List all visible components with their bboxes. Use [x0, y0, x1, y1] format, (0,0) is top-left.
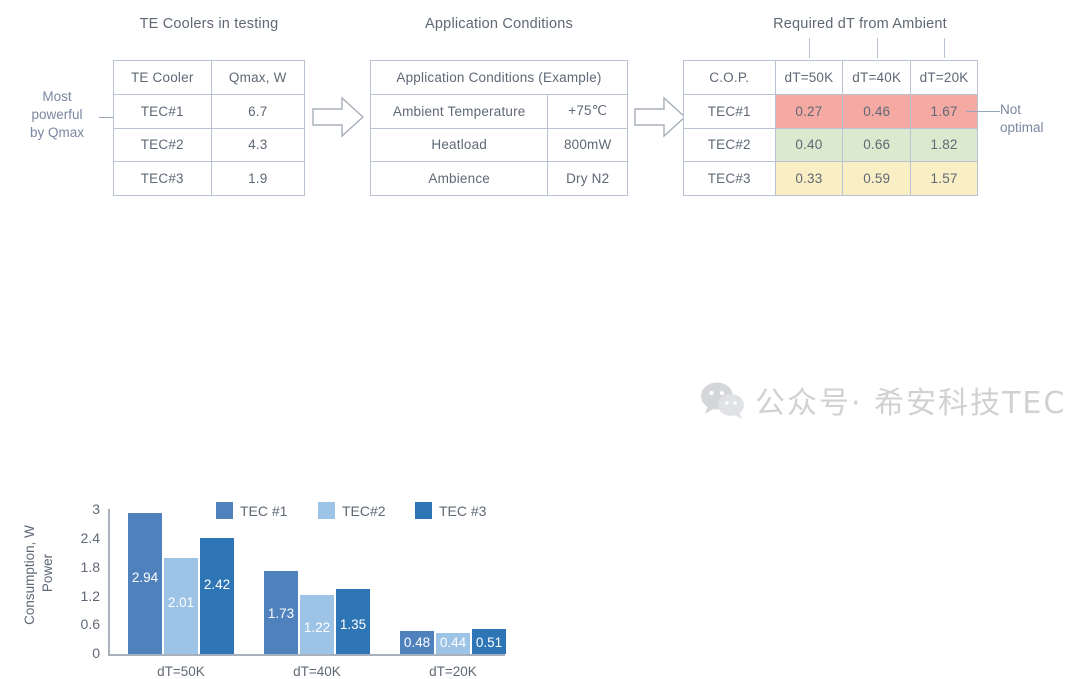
annotation-not-optimal-line2: optimal [1000, 119, 1074, 137]
legend-item-tec1: TEC #1 [216, 502, 287, 519]
caption-tick-2 [877, 38, 878, 58]
bar-value-tec3-dt50k: 2.42 [200, 577, 234, 592]
annotation-most-powerful-line2: powerful [18, 106, 96, 124]
caption-te-coolers: TE Coolers in testing [113, 16, 305, 32]
caption-required-dt: Required dT from Ambient [740, 16, 980, 32]
th-dt-40k: dT=40K [843, 61, 911, 95]
th-dt-20k: dT=20K [911, 61, 978, 95]
table-row-header: C.O.P. dT=50K dT=40K dT=20K [684, 61, 978, 95]
cell-heatload-value: 800mW [548, 128, 628, 162]
legend-label-tec3: TEC #3 [439, 503, 486, 519]
table-row: TEC#1 6.7 [114, 94, 305, 128]
cell-ambient-temperature-value: +75℃ [548, 94, 628, 128]
legend-swatch-tec3 [415, 502, 432, 519]
arrow-right-icon-2 [634, 96, 686, 138]
table-application-conditions: Application Conditions (Example) Ambient… [370, 60, 628, 196]
th-te-cooler: TE Cooler [114, 61, 212, 95]
annotation-most-powerful: Most powerful by Qmax [18, 88, 96, 142]
legend-swatch-tec1 [216, 502, 233, 519]
cell-cop-tec3-dt50: 0.33 [775, 162, 843, 196]
cell-ambient-temperature-label: Ambient Temperature [371, 94, 548, 128]
table-row-title: Application Conditions (Example) [371, 61, 628, 95]
table-te-coolers: TE Cooler Qmax, W TEC#1 6.7 TEC#2 4.3 TE… [113, 60, 305, 196]
bar-value-tec1-dt40k: 1.73 [264, 606, 298, 621]
x-label-dt50k: dT=50K [131, 664, 231, 679]
x-label-dt40k: dT=40K [267, 664, 367, 679]
y-tick-3: 3 [56, 501, 100, 517]
chart-power-consumption: TEC #1 TEC#2 TEC #3 Consumption, W Power… [0, 240, 540, 454]
caption-tick-1 [809, 38, 810, 58]
y-tick-0: 0 [56, 645, 100, 661]
bar-value-tec1-dt20k: 0.48 [400, 635, 434, 650]
caption-tick-3 [944, 38, 945, 58]
bar-value-tec3-dt40k: 1.35 [336, 617, 370, 632]
y-tick-0_6: 0.6 [56, 616, 100, 632]
cell-ambience-label: Ambience [371, 162, 548, 196]
cell-cop-tec1-dt40: 0.46 [843, 94, 911, 128]
caption-application-conditions: Application Conditions [370, 16, 628, 32]
legend-label-tec1: TEC #1 [240, 503, 287, 519]
annotation-most-powerful-line3: by Qmax [18, 124, 96, 142]
cell-cop-tec3-dt40: 0.59 [843, 162, 911, 196]
cell-tec3-qmax: 1.9 [211, 162, 305, 196]
cell-tec2-name: TEC#2 [114, 128, 212, 162]
th-qmax: Qmax, W [211, 61, 305, 95]
table-row: TEC#2 4.3 [114, 128, 305, 162]
annotation-most-powerful-line1: Most [18, 88, 96, 106]
cell-cop-tec1-label: TEC#1 [684, 94, 776, 128]
th-dt-50k: dT=50K [775, 61, 843, 95]
bar-value-tec2-dt20k: 0.44 [436, 635, 470, 650]
y-tick-1_2: 1.2 [56, 588, 100, 604]
y-axis-title-secondary: Power [40, 514, 55, 632]
th-cop: C.O.P. [684, 61, 776, 95]
table-row-header: TE Cooler Qmax, W [114, 61, 305, 95]
cell-tec3-name: TEC#3 [114, 162, 212, 196]
bar-value-tec3-dt20k: 0.51 [472, 635, 506, 650]
bar-value-tec1-dt50k: 2.94 [128, 570, 162, 585]
cell-heatload-label: Heatload [371, 128, 548, 162]
y-tick-1_8: 1.8 [56, 559, 100, 575]
x-label-dt20k: dT=20K [403, 664, 503, 679]
x-axis-line [108, 654, 505, 656]
table-cop: C.O.P. dT=50K dT=40K dT=20K TEC#1 0.27 0… [683, 60, 978, 196]
cell-tec2-qmax: 4.3 [211, 128, 305, 162]
table-row: TEC#2 0.40 0.66 1.82 [684, 128, 978, 162]
y-axis-line [108, 509, 110, 655]
cell-cop-tec2-dt20: 1.82 [911, 128, 978, 162]
bar-value-tec2-dt40k: 1.22 [300, 620, 334, 635]
legend-item-tec3: TEC #3 [415, 502, 486, 519]
annotation-not-optimal: Not optimal [1000, 101, 1074, 137]
cell-cop-tec2-dt50: 0.40 [775, 128, 843, 162]
table-row: Ambience Dry N2 [371, 162, 628, 196]
bar-value-tec2-dt50k: 2.01 [164, 595, 198, 610]
y-tick-2_4: 2.4 [56, 530, 100, 546]
cell-cop-tec2-label: TEC#2 [684, 128, 776, 162]
table-row: Ambient Temperature +75℃ [371, 94, 628, 128]
legend-label-tec2: TEC#2 [342, 503, 386, 519]
th-application-conditions-example: Application Conditions (Example) [371, 61, 628, 95]
table-row: TEC#3 0.33 0.59 1.57 [684, 162, 978, 196]
cell-tec1-qmax: 6.7 [211, 94, 305, 128]
table-row: TEC#1 0.27 0.46 1.67 [684, 94, 978, 128]
chart-cop: TE Coolers C.O.P. Heatload / Power Consu… [540, 240, 1080, 454]
annotation-right-leader-line [966, 111, 1000, 112]
table-row: Heatload 800mW [371, 128, 628, 162]
cell-ambience-value: Dry N2 [548, 162, 628, 196]
y-axis-title-line2: Consumption, W [22, 500, 37, 650]
y-axis-title: Consumption, W [22, 500, 37, 650]
table-row: TEC#3 1.9 [114, 162, 305, 196]
arrow-right-icon-1 [312, 96, 364, 138]
cell-cop-tec1-dt50: 0.27 [775, 94, 843, 128]
cell-cop-tec2-dt40: 0.66 [843, 128, 911, 162]
cell-cop-tec3-label: TEC#3 [684, 162, 776, 196]
legend-item-tec2: TEC#2 [318, 502, 386, 519]
cell-tec1-name: TEC#1 [114, 94, 212, 128]
cell-cop-tec3-dt20: 1.57 [911, 162, 978, 196]
annotation-not-optimal-line1: Not [1000, 101, 1074, 119]
legend-swatch-tec2 [318, 502, 335, 519]
bar-tec3-dt50k [200, 538, 234, 654]
y-axis-title-line1: Power [40, 514, 55, 632]
